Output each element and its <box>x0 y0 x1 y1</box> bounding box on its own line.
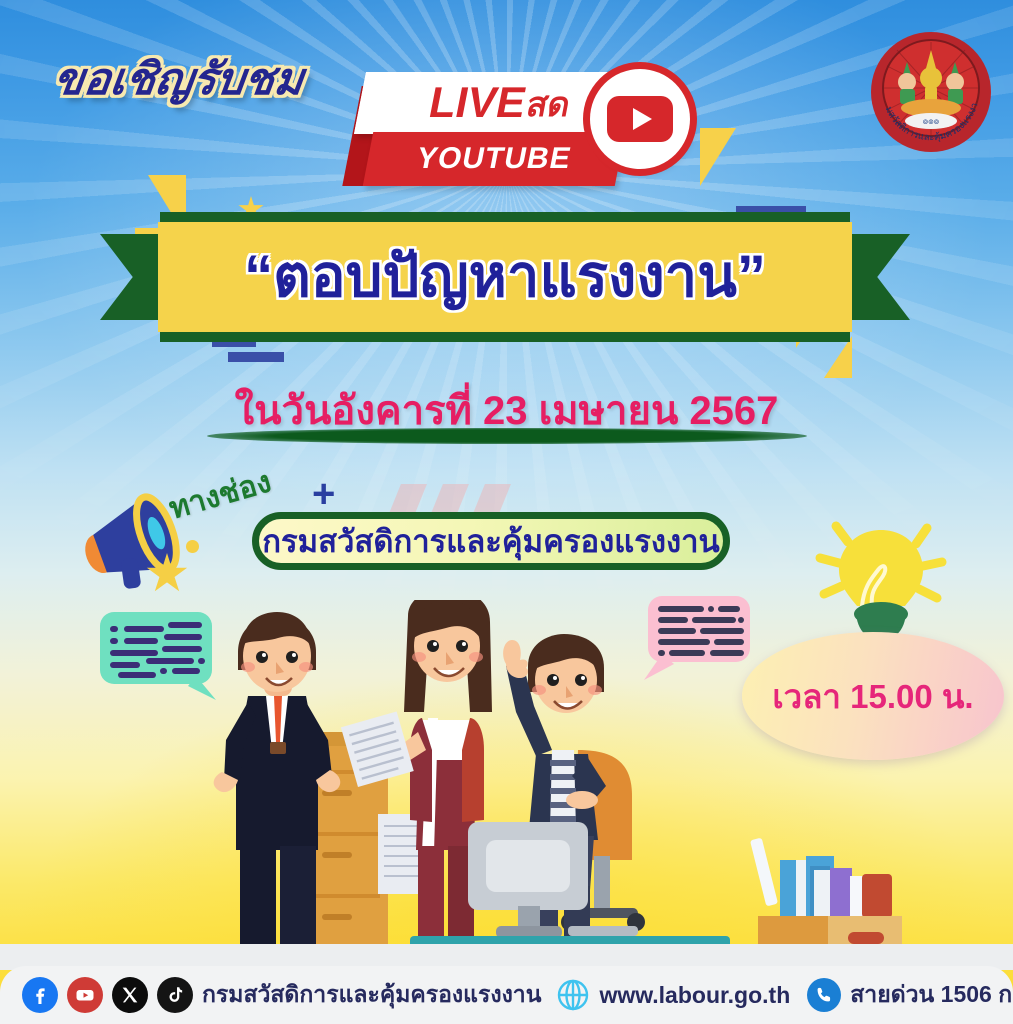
tiktok-glyph <box>164 984 186 1006</box>
banner-center: “ตอบปัญหาแรงงาน” <box>158 222 852 332</box>
footer-website[interactable]: www.labour.go.th <box>599 982 790 1009</box>
tiktok-icon[interactable] <box>157 977 193 1013</box>
poster-canvas: ขอเชิญรับชม LIVEสด YOUTUBE <box>0 0 1013 1024</box>
lightbulb-icon <box>806 506 956 646</box>
banner-title: “ตอบปัญหาแรงงาน” <box>244 248 766 306</box>
date-underline-ellipse <box>207 428 807 444</box>
phone-icon <box>807 978 841 1012</box>
live-word-en: LIVE <box>426 82 530 125</box>
globe-glyph <box>556 978 590 1012</box>
plus-symbol: + <box>312 472 335 517</box>
decor-triangle <box>700 128 736 186</box>
live-label: LIVEสด <box>375 77 625 129</box>
play-button-body <box>607 96 673 142</box>
youtube-icon[interactable] <box>67 977 103 1013</box>
live-word-th: สด <box>524 88 573 122</box>
footer-bar: กรมสวัสดิการและคุ้มครองแรงงาน www.labour… <box>0 966 1013 1024</box>
office-scene-glyph <box>170 600 730 980</box>
time-text: เวลา 15.00 น. <box>772 670 973 723</box>
lightbulb-glyph <box>806 506 956 646</box>
time-badge: เวลา 15.00 น. <box>742 632 1004 760</box>
x-twitter-icon[interactable] <box>112 977 148 1013</box>
office-scene-illustration <box>170 600 730 980</box>
facebook-icon[interactable] <box>22 977 58 1013</box>
decor-triangle <box>824 336 852 378</box>
facebook-glyph <box>28 983 52 1007</box>
phone-glyph <box>814 985 834 1005</box>
channel-name-text: กรมสวัสดิการและคุ้มครองแรงงาน <box>262 516 720 566</box>
play-icon[interactable] <box>590 69 690 169</box>
globe-icon <box>556 978 590 1012</box>
main-banner: “ตอบปัญหาแรงงาน” <box>100 212 910 342</box>
decor-dash <box>228 352 284 362</box>
play-triangle <box>633 108 652 130</box>
channel-name-pill[interactable]: กรมสวัสดิการและคุ้มครองแรงงาน <box>252 512 730 570</box>
x-glyph <box>119 984 141 1006</box>
footer-hotline: สายด่วน 1506 กด 3 หรือ 1546 <box>850 977 1013 1013</box>
live-youtube-badge[interactable]: LIVEสด YOUTUBE <box>352 72 697 200</box>
decor-dot <box>186 540 199 553</box>
emblem-icon: ๏๏๏ กรมสวัสดิการและคุ้มครองแรงงาน <box>867 28 995 156</box>
invite-headline: ขอเชิญรับชม <box>50 44 308 114</box>
department-emblem: ๏๏๏ กรมสวัสดิการและคุ้มครองแรงงาน <box>867 28 995 156</box>
footer-department: กรมสวัสดิการและคุ้มครองแรงงาน <box>202 977 541 1013</box>
youtube-glyph <box>73 983 97 1007</box>
youtube-label: YOUTUBE <box>363 134 625 184</box>
svg-text:๏๏๏: ๏๏๏ <box>923 116 939 126</box>
